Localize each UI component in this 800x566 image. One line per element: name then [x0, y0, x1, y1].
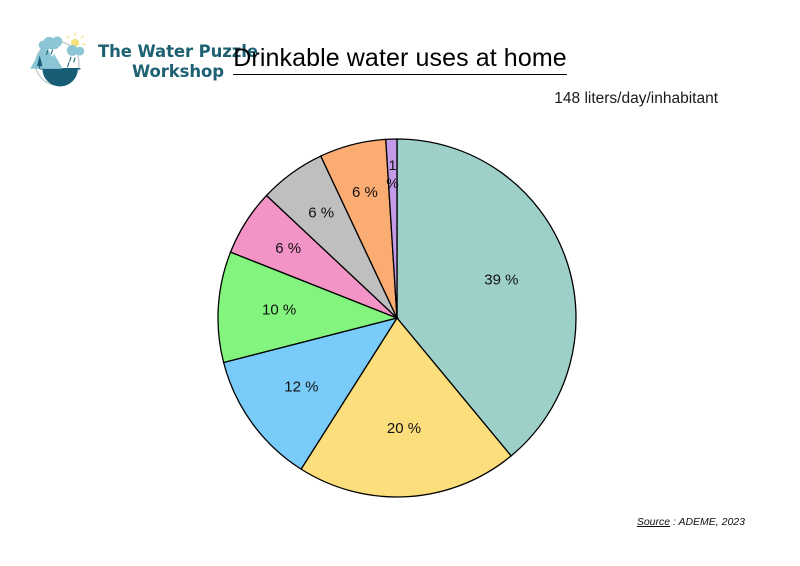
pie-label-slice-39: 39 %: [484, 271, 518, 288]
page-title: Drinkable water uses at home: [0, 44, 800, 73]
pie-label-slice-6-orange: 6 %: [352, 184, 378, 201]
pie-chart-svg: 39 %20 %12 %10 %6 %6 %6 %1%: [217, 138, 577, 498]
pie-label-slice-10: 10 %: [262, 302, 296, 319]
source-value: : ADEME, 2023: [670, 516, 745, 528]
page-title-text: Drinkable water uses at home: [233, 44, 567, 75]
pie-label-slice-6-pink: 6 %: [275, 240, 301, 257]
source-label: Source: [637, 516, 670, 528]
chart-subtitle: 148 liters/day/inhabitant: [554, 90, 718, 108]
pie-chart: 39 %20 %12 %10 %6 %6 %6 %1%: [217, 138, 577, 498]
source-note: Source : ADEME, 2023: [637, 516, 745, 528]
pie-label-slice-12: 12 %: [284, 378, 318, 395]
pie-label-slice-6-gray: 6 %: [308, 205, 334, 222]
pie-label-slice-20: 20 %: [387, 420, 421, 437]
